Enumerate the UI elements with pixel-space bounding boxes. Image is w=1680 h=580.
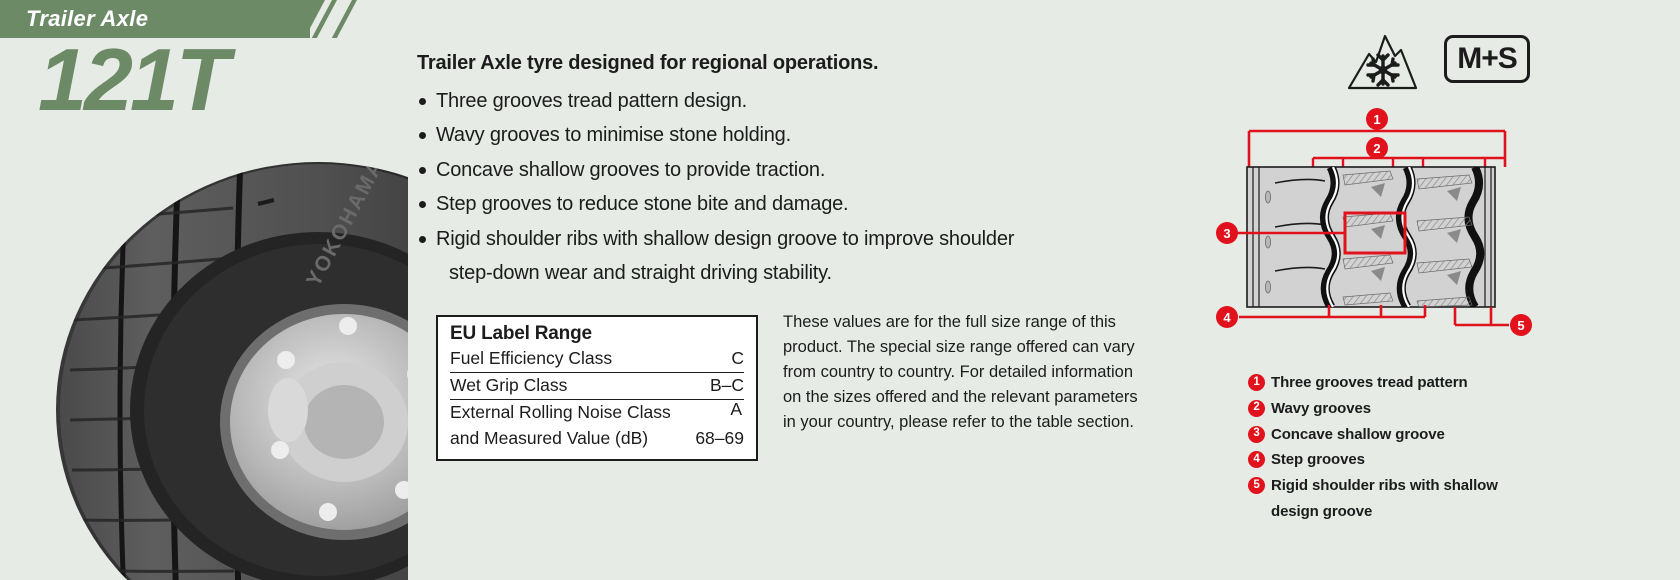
legend-badge-2: 2 xyxy=(1248,400,1265,417)
callout-badge-2: 2 xyxy=(1366,137,1388,159)
bullet-text: Wavy grooves to minimise stone holding. xyxy=(436,124,791,146)
legend-badge-1: 1 xyxy=(1248,374,1265,391)
callout-badge-4: 4 xyxy=(1216,306,1238,328)
tread-pattern-diagram: 1 2 3 4 5 xyxy=(1185,105,1545,355)
list-item: Three grooves tread pattern design. xyxy=(417,84,1147,118)
svg-text:4: 4 xyxy=(1223,310,1231,325)
legend-label-5: Rigid shoulder ribs with shallow design … xyxy=(1271,473,1578,525)
list-item: 4 Step grooves xyxy=(1248,447,1578,473)
table-row: Fuel Efficiency Class C xyxy=(450,346,744,373)
legend-label-1: Three grooves tread pattern xyxy=(1271,370,1578,396)
tyre-illustration: YOKOHAMA xyxy=(18,160,408,580)
legend-badge-3: 3 xyxy=(1248,426,1265,443)
tyre-photo: YOKOHAMA xyxy=(18,160,408,580)
bullet-text: Three grooves tread pattern design. xyxy=(436,90,747,112)
bullet-text: Rigid shoulder ribs with shallow design … xyxy=(436,228,1014,250)
svg-text:2: 2 xyxy=(1373,141,1380,156)
load-index: 121T xyxy=(38,36,227,124)
list-item: 2 Wavy grooves xyxy=(1248,396,1578,422)
list-item: Step grooves to reduce stone bite and da… xyxy=(417,187,1147,221)
svg-text:3: 3 xyxy=(1223,226,1230,241)
legend-label-3: Concave shallow groove xyxy=(1271,422,1578,448)
list-item: Wavy grooves to minimise stone holding. xyxy=(417,118,1147,152)
feature-bullet-list: Three grooves tread pattern design. Wavy… xyxy=(417,84,1147,290)
legend-badge-4: 4 xyxy=(1248,451,1265,468)
legend-label-5-line1: Rigid shoulder ribs with shallow xyxy=(1271,477,1498,494)
legend-label-5-line2: design groove xyxy=(1271,499,1578,525)
eu-label-note: These values are for the full size range… xyxy=(783,310,1143,435)
callout-badge-3: 3 xyxy=(1216,222,1238,244)
banner-title: Trailer Axle xyxy=(26,6,148,32)
bullet-text: Step grooves to reduce stone bite and da… xyxy=(436,193,848,215)
list-item: 3 Concave shallow groove xyxy=(1248,422,1578,448)
eu-label-title: EU Label Range xyxy=(450,323,744,345)
bullet-text: Concave shallow grooves to provide tract… xyxy=(436,159,825,181)
description-block: Trailer Axle tyre designed for regional … xyxy=(417,52,1147,290)
noise-measured-value: 68–69 xyxy=(695,426,744,451)
svg-text:1: 1 xyxy=(1373,112,1380,127)
noise-class-label: External Rolling Noise Class xyxy=(450,400,744,425)
list-item: Concave shallow grooves to provide tract… xyxy=(417,153,1147,187)
legend-label-2: Wavy grooves xyxy=(1271,396,1578,422)
eu-label-table: EU Label Range Fuel Efficiency Class C W… xyxy=(436,315,758,461)
table-row: Wet Grip Class B–C xyxy=(450,373,744,400)
list-item: Rigid shoulder ribs with shallow design … xyxy=(417,222,1147,291)
banner-stripe-4 xyxy=(332,0,357,38)
fuel-efficiency-label: Fuel Efficiency Class xyxy=(450,346,612,371)
noise-class-value: A xyxy=(730,399,742,420)
callout-badge-5: 5 xyxy=(1510,314,1532,336)
bullet-text-continued: step-down wear and straight driving stab… xyxy=(436,256,1147,290)
wet-grip-label: Wet Grip Class xyxy=(450,373,567,398)
noise-value-label: and Measured Value (dB) xyxy=(450,426,648,451)
list-item: 1 Three grooves tread pattern xyxy=(1248,370,1578,396)
tread-legend: 1 Three grooves tread pattern 2 Wavy gro… xyxy=(1248,370,1578,525)
callout-badge-1: 1 xyxy=(1366,108,1388,130)
svg-text:5: 5 xyxy=(1517,318,1524,333)
product-datasheet-page: Trailer Axle 121T xyxy=(0,0,1680,577)
fuel-efficiency-value: C xyxy=(721,346,744,371)
description-heading: Trailer Axle tyre designed for regional … xyxy=(417,52,1147,75)
table-row: External Rolling Noise Class and Measure… xyxy=(450,400,744,450)
wet-grip-value: B–C xyxy=(700,373,744,398)
callout-bracket-5 xyxy=(1455,307,1509,325)
list-item: 5 Rigid shoulder ribs with shallow desig… xyxy=(1248,473,1578,525)
legend-badge-5: 5 xyxy=(1248,477,1265,494)
three-peak-mountain-snowflake-icon xyxy=(1345,32,1420,92)
callout-bracket-2 xyxy=(1313,149,1505,167)
legend-label-4: Step grooves xyxy=(1271,447,1578,473)
mud-and-snow-badge: M+S xyxy=(1444,35,1530,83)
